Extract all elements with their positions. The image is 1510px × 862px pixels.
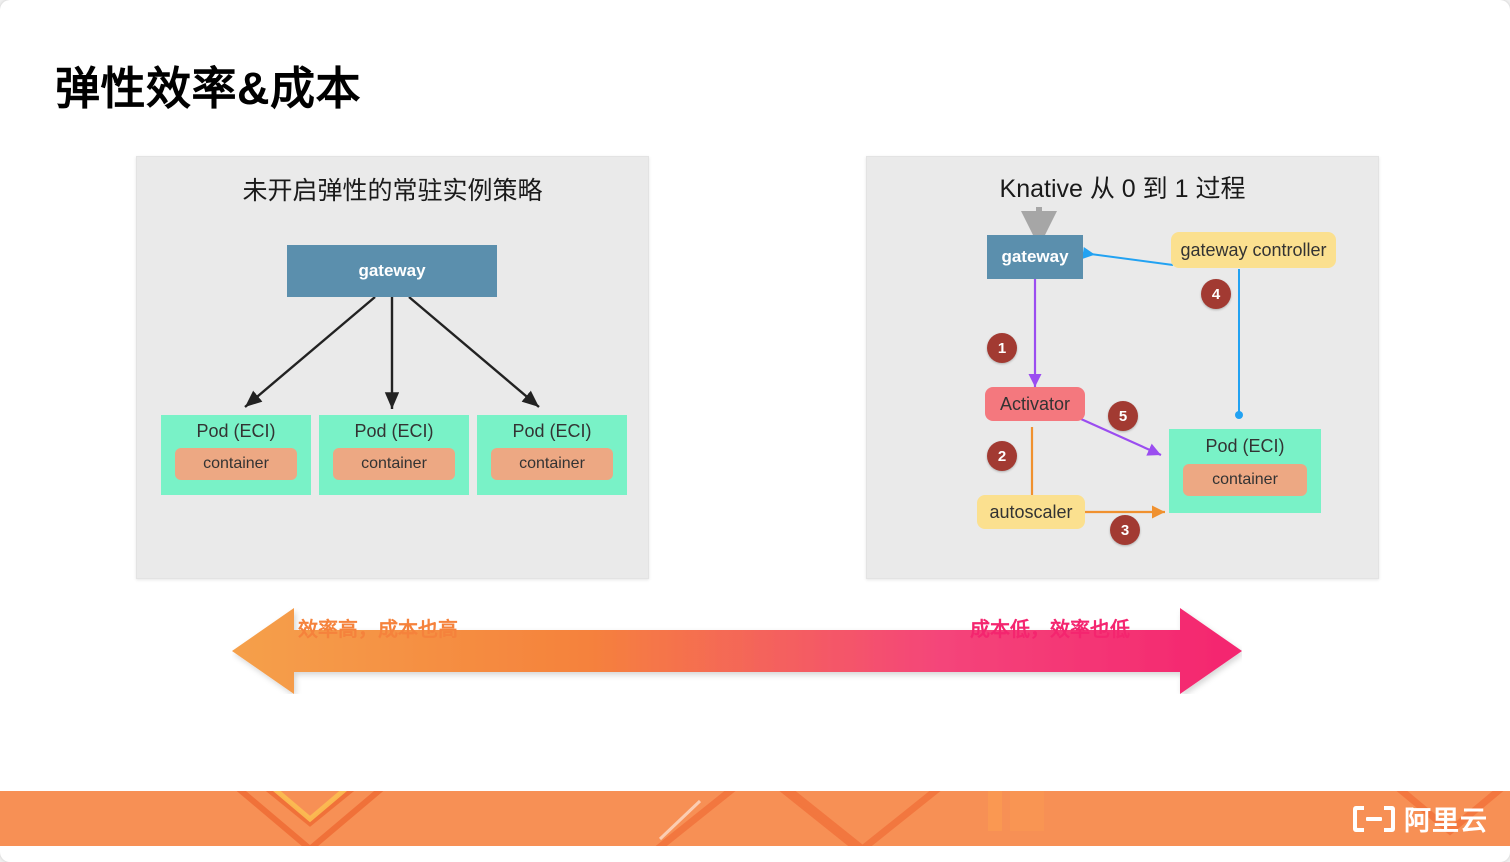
footer-chevron-pattern [0, 791, 1510, 846]
left-gateway-label: gateway [358, 261, 425, 281]
left-gateway-node[interactable]: gateway [287, 245, 497, 297]
autoscaler-label: autoscaler [989, 502, 1072, 523]
alibaba-cloud-mark-icon [1352, 804, 1396, 834]
page-title: 弹性效率&成本 [55, 52, 361, 117]
pod-title: Pod (ECI) [196, 421, 275, 442]
container-box: container [175, 448, 297, 480]
activator-node[interactable]: Activator [985, 387, 1085, 421]
footer-bar [0, 791, 1510, 846]
activator-label: Activator [1000, 394, 1070, 415]
gateway-controller-label: gateway controller [1180, 240, 1326, 261]
panel-knative-zero-to-one: Knative 从 0 到 1 过程 [866, 156, 1379, 579]
spectrum-label-left: 效率高，成本也高 [298, 613, 458, 642]
step-badge-2: 2 [987, 441, 1017, 471]
container-box: container [491, 448, 613, 480]
container-box: container [333, 448, 455, 480]
step-badge-5: 5 [1108, 401, 1138, 431]
pod-title: Pod (ECI) [1205, 436, 1284, 457]
pod-title: Pod (ECI) [354, 421, 433, 442]
slide-canvas: 弹性效率&成本 未开启弹性的常驻实例策略 gateway Pod (ECI) c… [0, 0, 1510, 862]
step-badge-1: 1 [987, 333, 1017, 363]
left-pod-node-1[interactable]: Pod (ECI) container [161, 415, 311, 495]
gateway-controller-node[interactable]: gateway controller [1171, 232, 1336, 268]
panel-left-title: 未开启弹性的常驻实例策略 [137, 171, 648, 207]
step-badge-4: 4 [1201, 279, 1231, 309]
step-badge-3: 3 [1110, 515, 1140, 545]
brand-logo: 阿里云 [1352, 799, 1488, 838]
left-panel-edges [137, 157, 650, 580]
spectrum-label-right: 成本低，效率也低 [970, 613, 1130, 642]
panel-resident-instances: 未开启弹性的常驻实例策略 gateway Pod (ECI) container… [136, 156, 649, 579]
left-pod-node-3[interactable]: Pod (ECI) container [477, 415, 627, 495]
right-gateway-node[interactable]: gateway [987, 235, 1083, 279]
brand-name: 阿里云 [1404, 799, 1488, 838]
pod-title: Pod (ECI) [512, 421, 591, 442]
container-box: container [1183, 464, 1307, 496]
left-pod-node-2[interactable]: Pod (ECI) container [319, 415, 469, 495]
right-pod-node[interactable]: Pod (ECI) container [1169, 429, 1321, 513]
right-gateway-label: gateway [1001, 247, 1068, 267]
autoscaler-node[interactable]: autoscaler [977, 495, 1085, 529]
panel-right-title: Knative 从 0 到 1 过程 [867, 169, 1378, 205]
